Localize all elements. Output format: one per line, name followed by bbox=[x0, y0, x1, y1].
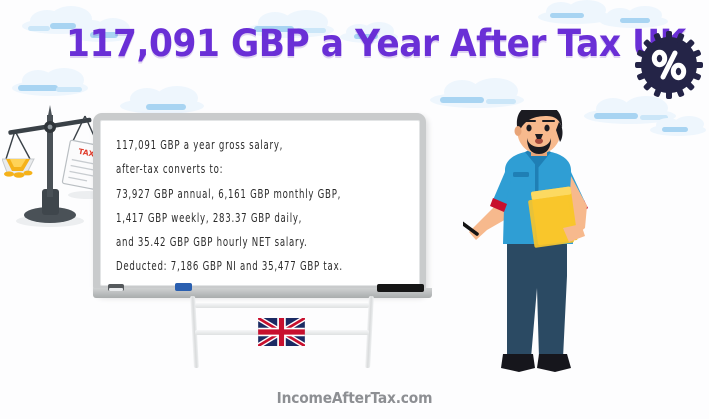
infographic-canvas: 117,091 GBP a Year After Tax UK bbox=[0, 0, 709, 419]
cloud-icon bbox=[12, 68, 92, 100]
whiteboard-stand bbox=[186, 296, 378, 368]
whiteboard-surface: 117,091 GBP a year gross salary, after-t… bbox=[100, 120, 420, 286]
union-jack-flag-icon bbox=[258, 318, 305, 346]
site-footer: IncomeAfterTax.com bbox=[28, 389, 680, 407]
percent-badge-icon bbox=[634, 30, 704, 100]
cloud-icon bbox=[430, 78, 526, 112]
blue-marker-icon bbox=[175, 283, 192, 291]
teacher-presenter-icon bbox=[463, 110, 623, 388]
whiteboard-eraser-icon bbox=[108, 284, 124, 291]
whiteboard: 117,091 GBP a year gross salary, after-t… bbox=[93, 113, 426, 295]
page-title: 117,091 GBP a Year After Tax UK bbox=[66, 22, 605, 65]
black-eraser-icon bbox=[377, 284, 424, 292]
stand-crossbar-top bbox=[195, 303, 369, 308]
cloud-icon bbox=[650, 116, 708, 138]
whiteboard-line: Deducted: 7,186 GBP NI and 35,477 GBP ta… bbox=[116, 250, 419, 285]
